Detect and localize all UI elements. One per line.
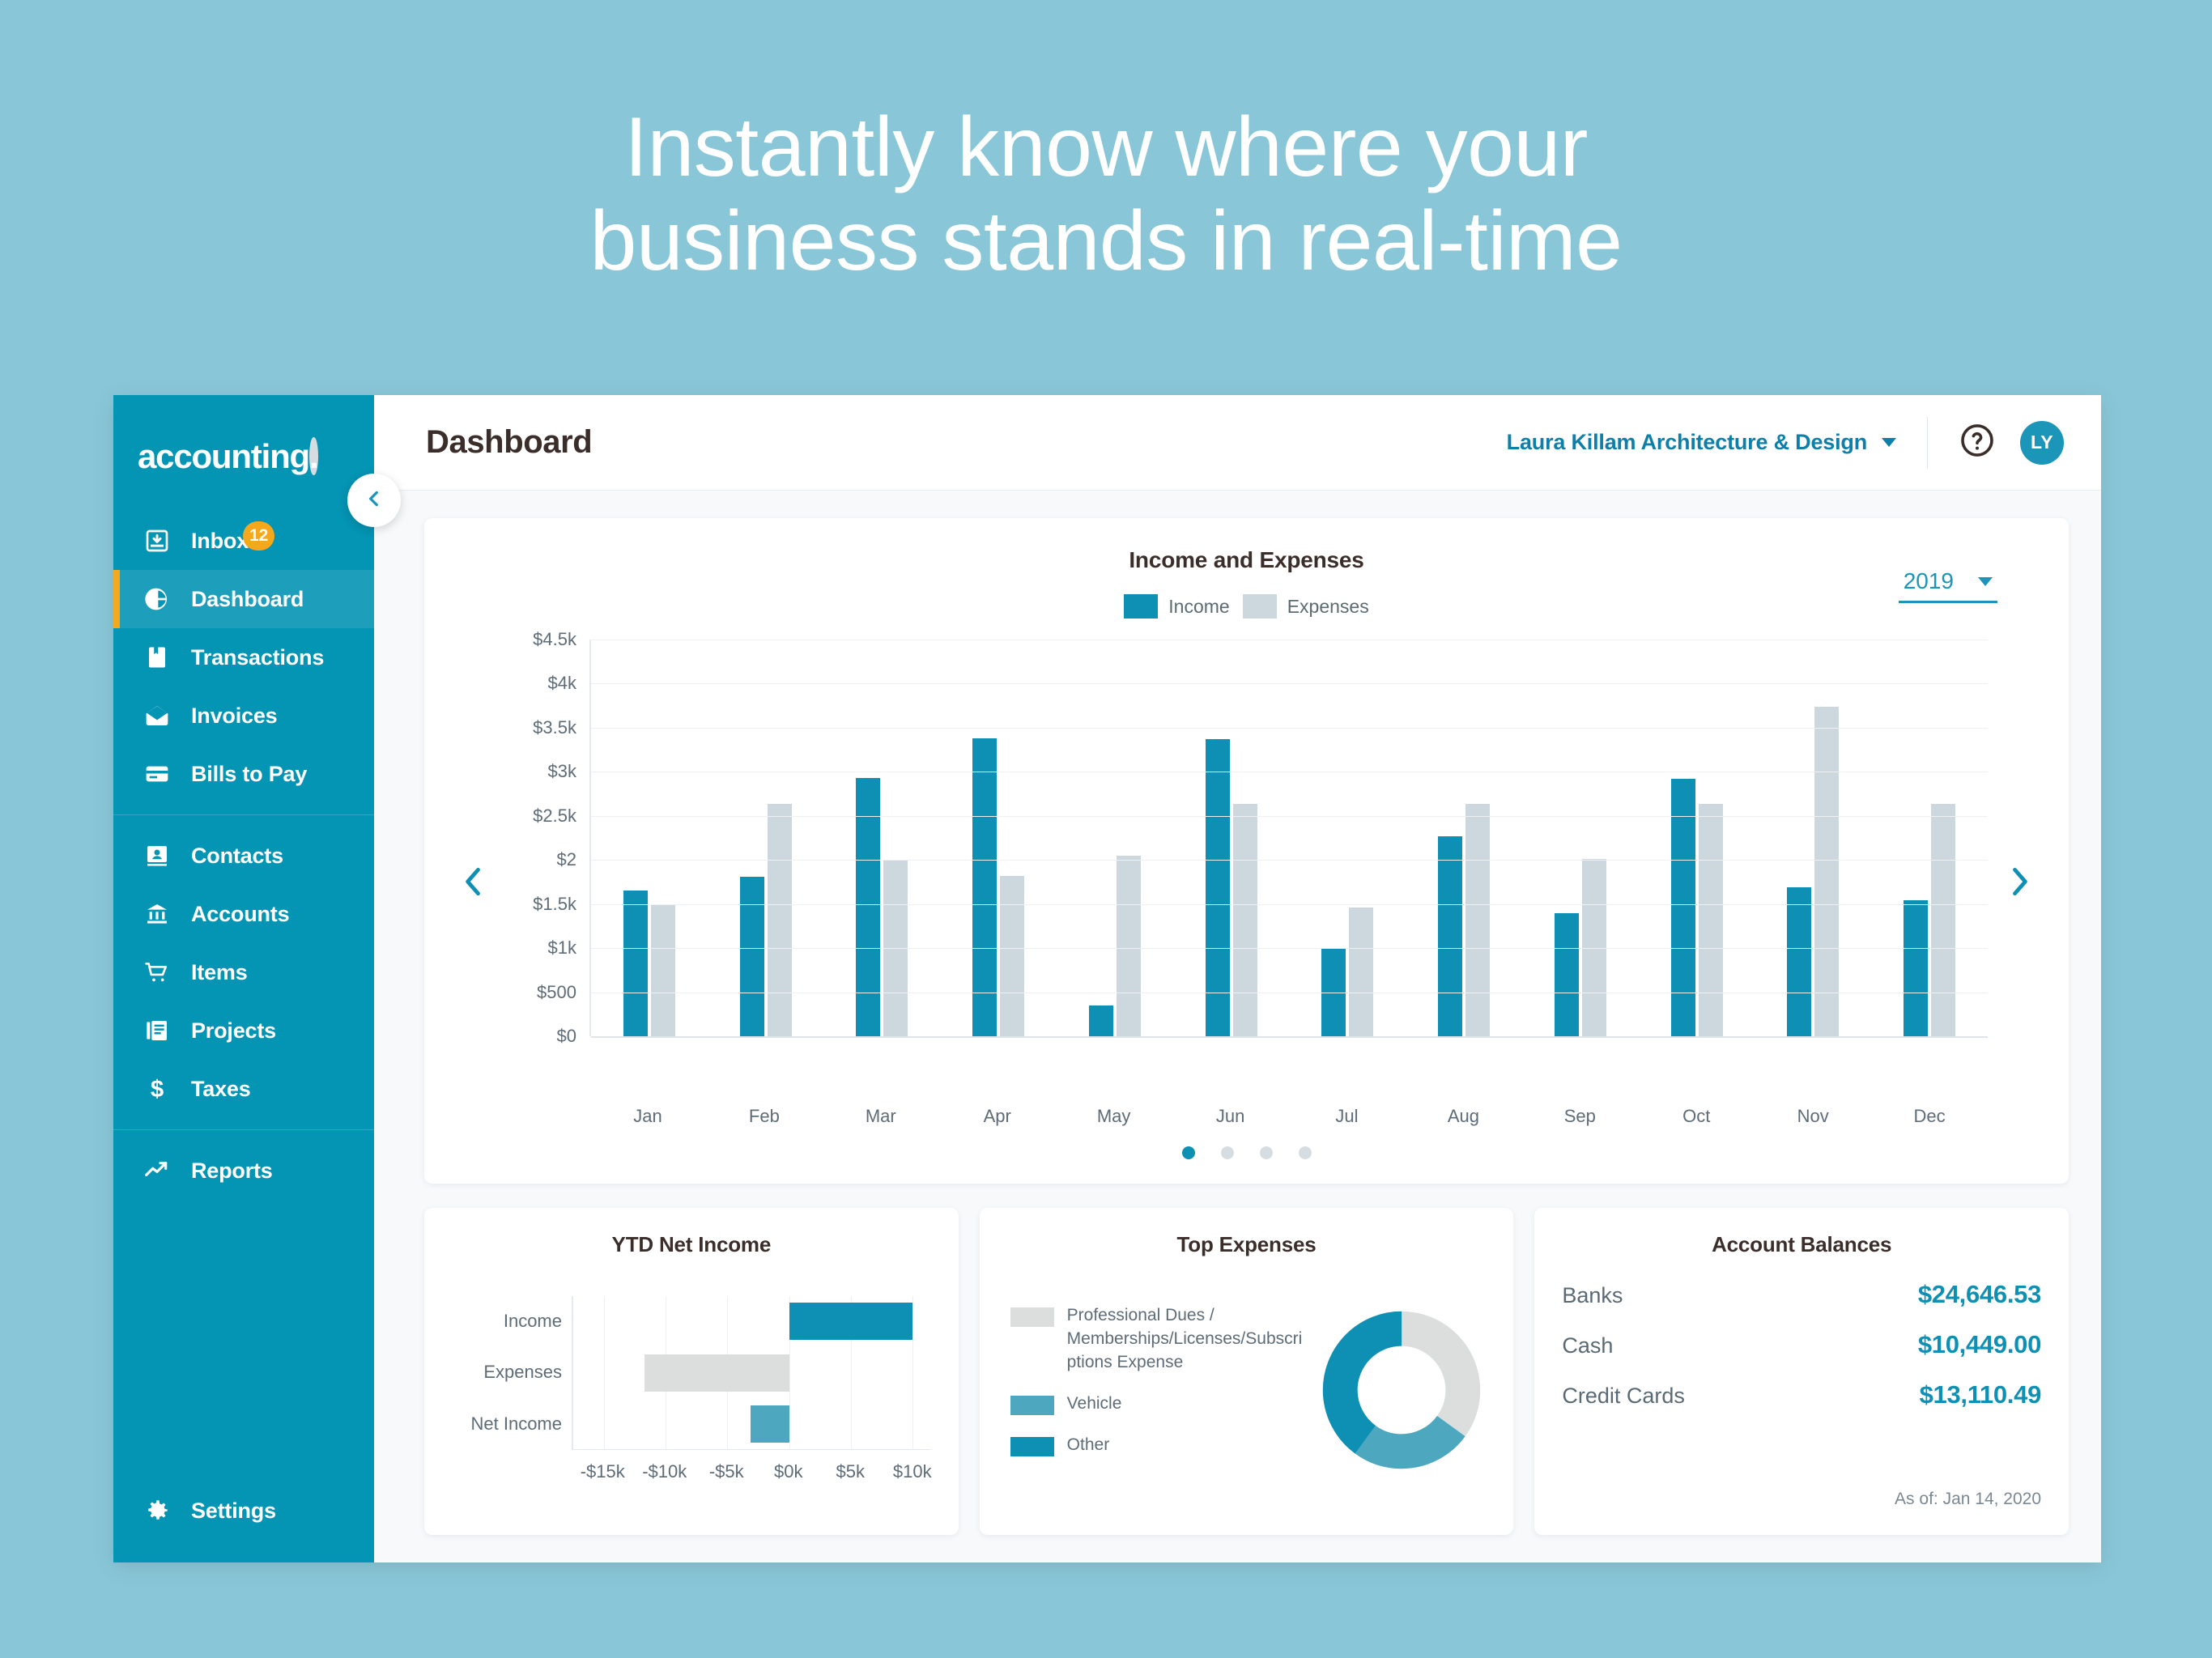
x-axis-tick-label: Jan [589, 1106, 706, 1127]
bar-expenses-dec[interactable] [1931, 804, 1955, 1036]
bar-group-apr [940, 640, 1057, 1036]
bar-group-feb [708, 640, 824, 1036]
chart-prev-button[interactable] [442, 864, 505, 903]
balance-row: Cash $10,449.00 [1562, 1330, 2041, 1359]
x-axis-tick-label: Feb [706, 1106, 823, 1127]
topbar-divider [1927, 417, 1928, 469]
ytd-rows: IncomeExpensesNet Income [452, 1296, 931, 1450]
year-value: 2019 [1904, 568, 1954, 594]
y-axis-tick-label: $4k [548, 673, 576, 694]
legend-label-expenses: Expenses [1287, 596, 1369, 618]
bars-container [591, 640, 1988, 1036]
gear-icon [141, 1494, 173, 1527]
topbar: Dashboard Laura Killam Architecture & De… [374, 395, 2101, 491]
legend-item-professional-dues: Professional Dues / Memberships/Licenses… [1010, 1304, 1312, 1375]
bar-group-aug [1406, 640, 1522, 1036]
bar-expenses-feb[interactable] [768, 804, 792, 1036]
gridline [591, 904, 1988, 905]
sidebar-item-settings[interactable]: Settings [113, 1482, 374, 1540]
legend-label-vehicle: Vehicle [1067, 1392, 1122, 1416]
x-axis-tick-label: Sep [1521, 1106, 1638, 1127]
gridline [591, 816, 1988, 817]
logo-text: accounting [138, 437, 309, 475]
bar-income-mar[interactable] [856, 778, 880, 1036]
donut-chart [1321, 1309, 1482, 1471]
x-axis-spacer [505, 1093, 589, 1127]
sidebar: accounting. Inbox 12 Dashboard [113, 395, 374, 1562]
carousel-dot-3[interactable] [1260, 1146, 1273, 1159]
bar-group-mar [824, 640, 941, 1036]
ytd-gridline [604, 1296, 605, 1450]
avatar[interactable]: LY [2020, 421, 2064, 465]
balance-label: Cash [1562, 1333, 1613, 1358]
ytd-x-tick-label: $5k [836, 1461, 864, 1482]
year-selector[interactable]: 2019 [1899, 568, 1997, 603]
ytd-body: IncomeExpensesNet Income -$15k-$10k-$5k$… [452, 1265, 931, 1514]
sidebar-item-accounts[interactable]: Accounts [113, 885, 374, 943]
top-expenses-title: Top Expenses [1007, 1232, 1487, 1257]
x-axis-tick-label: Nov [1755, 1106, 1871, 1127]
ytd-gridline [912, 1296, 913, 1450]
page-title: Dashboard [426, 424, 592, 461]
ytd-category-labels: IncomeExpensesNet Income [452, 1296, 572, 1450]
gridline [591, 860, 1988, 861]
sidebar-item-label: Items [191, 960, 248, 985]
pie-chart-icon [141, 583, 173, 615]
app-window: accounting. Inbox 12 Dashboard [113, 395, 2101, 1562]
balance-label: Banks [1562, 1283, 1623, 1308]
main-area: Dashboard Laura Killam Architecture & De… [374, 395, 2101, 1562]
documents-icon [141, 1014, 173, 1047]
ytd-baseline [573, 1449, 931, 1450]
bar-expenses-aug[interactable] [1465, 804, 1490, 1036]
avatar-initials: LY [2031, 432, 2053, 453]
legend-swatch-expenses [1243, 594, 1277, 619]
sidebar-divider-1 [113, 814, 374, 815]
chevron-down-icon [1882, 438, 1896, 447]
inbox-icon [141, 525, 173, 557]
ytd-title: YTD Net Income [452, 1232, 931, 1257]
ytd-x-tick-label: $0k [774, 1461, 802, 1482]
legend-item-vehicle: Vehicle [1010, 1392, 1312, 1416]
bar-income-oct[interactable] [1671, 779, 1695, 1036]
balance-value: $10,449.00 [1918, 1330, 2041, 1359]
bar-expenses-jun[interactable] [1233, 804, 1257, 1036]
gridline [591, 948, 1988, 949]
sidebar-item-contacts[interactable]: Contacts [113, 827, 374, 885]
logo-dot: . [309, 437, 317, 475]
bar-income-nov[interactable] [1787, 887, 1811, 1036]
company-name: Laura Killam Architecture & Design [1507, 430, 1867, 455]
ytd-plot [572, 1296, 931, 1450]
chevron-left-icon [456, 864, 491, 903]
bar-expenses-apr[interactable] [1000, 876, 1024, 1036]
bar-income-feb[interactable] [740, 877, 764, 1036]
chevron-down-icon [1978, 577, 1993, 586]
balance-value: $13,110.49 [1920, 1380, 2041, 1409]
y-axis-tick-label: $1k [548, 937, 576, 959]
trending-up-icon [141, 1154, 173, 1187]
x-axis-tick-label: Mar [823, 1106, 939, 1127]
y-axis-tick-label: $2 [557, 849, 576, 870]
bar-group-jan [591, 640, 708, 1036]
chart-title: Income and Expenses [424, 547, 2069, 573]
sidebar-item-label: Invoices [191, 704, 277, 729]
carousel-dots [424, 1129, 2069, 1184]
y-axis-tick-label: $0 [557, 1026, 576, 1047]
x-axis-tick-label: Oct [1638, 1106, 1755, 1127]
bar-group-oct [1639, 640, 1755, 1036]
hero-line-2: business stands in real-time [589, 194, 1622, 288]
sidebar-nav-secondary: Settings [113, 1482, 374, 1562]
income-expenses-card: Income and Expenses Income Expenses 2019 [424, 518, 2069, 1184]
ytd-x-axis: -$15k-$10k-$5k$0k$5k$10k [452, 1461, 931, 1489]
account-balances-title: Account Balances [1562, 1232, 2041, 1257]
sidebar-item-label: Settings [191, 1499, 276, 1524]
balance-label: Credit Cards [1562, 1384, 1685, 1409]
x-axis-tick-label: Aug [1405, 1106, 1521, 1127]
hero-line-1: Instantly know where your [624, 100, 1588, 194]
chart-header: Income and Expenses Income Expenses 2019 [424, 547, 2069, 638]
account-balances-card: Account Balances Banks $24,646.53 Cash $… [1534, 1208, 2069, 1535]
x-axis-tick-label: Jul [1289, 1106, 1406, 1127]
carousel-dot-1[interactable] [1182, 1146, 1195, 1159]
bar-expenses-jan[interactable] [651, 905, 675, 1036]
svg-text:$: $ [151, 1076, 164, 1102]
sidebar-item-invoices[interactable]: Invoices [113, 687, 374, 745]
balance-row: Credit Cards $13,110.49 [1562, 1380, 2041, 1409]
bar-income-aug[interactable] [1438, 836, 1462, 1036]
sidebar-item-label: Inbox [191, 529, 249, 554]
ytd-x-tick-label: -$15k [581, 1461, 625, 1482]
sidebar-item-label: Accounts [191, 902, 289, 927]
dashboard-content: Income and Expenses Income Expenses 2019 [374, 491, 2101, 1562]
balances-as-of: As of: Jan 14, 2020 [1562, 1490, 2041, 1514]
x-axis-tick-label: May [1056, 1106, 1172, 1127]
sidebar-item-bills-to-pay[interactable]: Bills to Pay [113, 745, 374, 803]
bar-expenses-oct[interactable] [1699, 804, 1723, 1036]
ytd-category-label: Expenses [452, 1347, 562, 1398]
bar-expenses-nov[interactable] [1814, 707, 1839, 1036]
legend-item-other: Other [1010, 1434, 1312, 1457]
sidebar-item-label: Dashboard [191, 587, 304, 612]
bar-group-jul [1290, 640, 1406, 1036]
legend-item-income: Income [1124, 594, 1229, 619]
y-axis-tick-label: $1.5k [533, 894, 576, 915]
sidebar-item-projects[interactable]: Projects [113, 1001, 374, 1060]
chevron-left-icon [364, 488, 385, 513]
sidebar-spacer [113, 1200, 374, 1482]
bar-group-may [1057, 640, 1173, 1036]
bar-chart-plot-area: $0$500$1k$1.5k$2$2.5k$3k$3.5k$4k$4.5k [505, 640, 1988, 1093]
ytd-x-tick-label: $10k [893, 1461, 932, 1482]
legend-label-income: Income [1168, 596, 1229, 618]
question-circle-icon [1959, 422, 1996, 463]
ytd-bar-income[interactable] [789, 1303, 912, 1340]
gridline [591, 683, 1988, 684]
contact-card-icon [141, 840, 173, 872]
y-axis: $0$500$1k$1.5k$2$2.5k$3k$3.5k$4k$4.5k [505, 640, 589, 1036]
company-selector[interactable]: Laura Killam Architecture & Design [1507, 430, 1896, 455]
ytd-category-label: Net Income [452, 1398, 562, 1449]
top-expenses-body: Professional Dues / Memberships/Licenses… [1007, 1265, 1487, 1514]
legend-label-professional-dues: Professional Dues / Memberships/Licenses… [1067, 1304, 1312, 1375]
y-axis-tick-label: $2.5k [533, 806, 576, 827]
help-button[interactable] [1959, 422, 1996, 463]
sidebar-item-label: Reports [191, 1158, 273, 1184]
sidebar-item-label: Bills to Pay [191, 762, 307, 787]
sidebar-item-label: Transactions [191, 645, 324, 670]
sidebar-divider-2 [113, 1129, 374, 1130]
legend-swatch-other [1010, 1437, 1054, 1456]
credit-card-icon [141, 758, 173, 790]
bookmark-icon [141, 641, 173, 674]
bar-income-jan[interactable] [623, 891, 648, 1036]
carousel-dot-2[interactable] [1221, 1146, 1234, 1159]
chart-next-button[interactable] [1988, 864, 2051, 903]
x-axis-tick-label: Apr [939, 1106, 1056, 1127]
ytd-category-label: Income [452, 1296, 562, 1347]
sidebar-item-taxes[interactable]: $ Taxes [113, 1060, 374, 1118]
sidebar-item-dashboard[interactable]: Dashboard [113, 570, 374, 628]
sidebar-item-label: Contacts [191, 844, 283, 869]
bottom-panels-row: YTD Net Income IncomeExpensesNet Income … [424, 1208, 2069, 1535]
x-axis-tick-label: Jun [1172, 1106, 1289, 1127]
sidebar-item-reports[interactable]: Reports [113, 1141, 374, 1200]
account-balances-body: Banks $24,646.53 Cash $10,449.00 Credit … [1562, 1265, 2041, 1514]
legend-swatch-vehicle [1010, 1396, 1054, 1415]
top-expenses-card: Top Expenses Professional Dues / Members… [980, 1208, 1514, 1535]
ytd-x-tick-label: -$10k [642, 1461, 687, 1482]
legend-swatch-professional-dues [1010, 1307, 1054, 1327]
sidebar-item-label: Taxes [191, 1077, 251, 1102]
x-axis-tick-label: Dec [1871, 1106, 1988, 1127]
hero-banner: Instantly know where your business stand… [0, 0, 2212, 389]
bar-group-sep [1522, 640, 1639, 1036]
envelope-icon [141, 699, 173, 732]
y-axis-tick-label: $3.5k [533, 717, 576, 738]
x-axis: JanFebMarAprMayJunJulAugSepOctNovDec [589, 1106, 1988, 1127]
bar-group-dec [1871, 640, 1988, 1036]
dollar-sign-icon: $ [141, 1073, 173, 1105]
chart-legend: Income Expenses [424, 594, 2069, 619]
ytd-x-tick-label: -$5k [709, 1461, 744, 1482]
legend-item-expenses: Expenses [1243, 594, 1369, 619]
gridline [591, 728, 1988, 729]
sidebar-item-transactions[interactable]: Transactions [113, 628, 374, 687]
y-axis-tick-label: $3k [548, 761, 576, 782]
gridline [591, 993, 1988, 993]
bar-group-nov [1755, 640, 1872, 1036]
bank-icon [141, 898, 173, 930]
ytd-bar-expenses[interactable] [644, 1354, 789, 1392]
sidebar-nav-primary: Inbox 12 Dashboard Transactions Invo [113, 512, 374, 1200]
gridline [591, 640, 1988, 640]
x-axis-wrapper: JanFebMarAprMayJunJulAugSepOctNovDec [505, 1093, 1988, 1127]
gridline [591, 1036, 1988, 1038]
sidebar-item-label: Projects [191, 1018, 276, 1044]
topbar-right: Laura Killam Architecture & Design LY [1507, 417, 2064, 469]
gridline [591, 772, 1988, 772]
legend-label-other: Other [1067, 1434, 1110, 1457]
shopping-cart-icon [141, 956, 173, 988]
balance-value: $24,646.53 [1918, 1280, 2041, 1309]
inbox-badge: 12 [243, 521, 274, 551]
bar-income-dec[interactable] [1904, 900, 1928, 1036]
bar-group-jun [1173, 640, 1290, 1036]
bar-income-may[interactable] [1089, 1005, 1113, 1036]
y-axis-tick-label: $500 [537, 982, 576, 1003]
ytd-net-income-card: YTD Net Income IncomeExpensesNet Income … [424, 1208, 959, 1535]
bar-expenses-may[interactable] [1117, 856, 1141, 1036]
chart-body: $0$500$1k$1.5k$2$2.5k$3k$3.5k$4k$4.5k Ja… [424, 638, 2069, 1129]
balance-row: Banks $24,646.53 [1562, 1280, 2041, 1309]
bar-income-sep[interactable] [1555, 913, 1579, 1036]
carousel-dot-4[interactable] [1299, 1146, 1312, 1159]
app-logo[interactable]: accounting. [113, 395, 374, 512]
y-axis-tick-label: $4.5k [533, 629, 576, 650]
legend-swatch-income [1124, 594, 1158, 619]
ytd-x-axis-inner: -$15k-$10k-$5k$0k$5k$10k [572, 1461, 931, 1489]
sidebar-item-inbox[interactable]: Inbox 12 [113, 512, 374, 570]
sidebar-item-items[interactable]: Items [113, 943, 374, 1001]
ytd-bar-net-income[interactable] [751, 1405, 789, 1443]
sidebar-collapse-button[interactable] [347, 474, 401, 527]
donut-legend: Professional Dues / Memberships/Licenses… [1010, 1304, 1321, 1475]
bar-expenses-jul[interactable] [1349, 908, 1373, 1036]
chevron-right-icon [2001, 864, 2037, 903]
plot [589, 640, 1988, 1036]
